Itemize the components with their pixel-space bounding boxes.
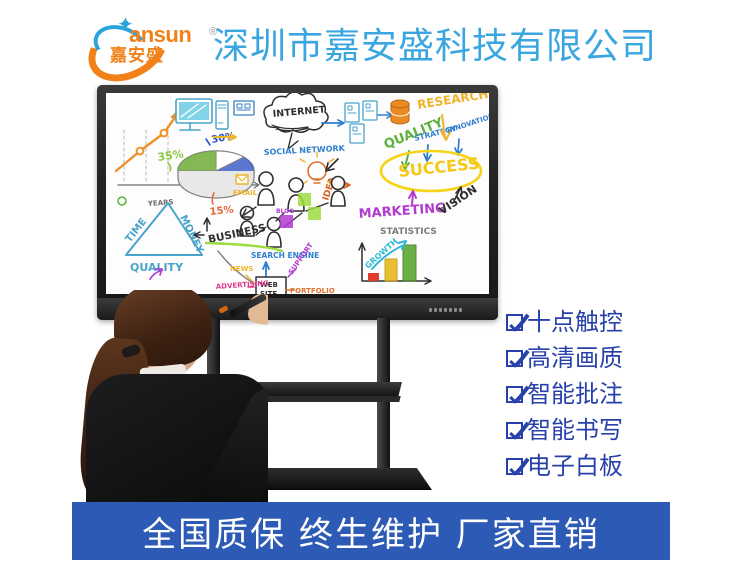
checkbox-checked-icon xyxy=(506,422,523,439)
bottom-banner: 全国质保 终生维护 厂家直销 xyxy=(72,502,670,560)
svg-text:PORTFOLIO: PORTFOLIO xyxy=(290,287,335,294)
feature-item-annotation: 智能批注 xyxy=(506,378,686,410)
feature-label: 智能批注 xyxy=(527,382,623,406)
svg-text:SOCIAL NETWORK: SOCIAL NETWORK xyxy=(264,144,346,157)
svg-text:NEWS: NEWS xyxy=(230,265,253,273)
control-button[interactable] xyxy=(439,308,442,312)
company-name: 深圳市嘉安盛科技有限公司 xyxy=(213,17,657,69)
whiteboard-screen[interactable]: YEARS 35% 30% 15% xyxy=(106,93,489,294)
display-control-buttons[interactable] xyxy=(429,308,462,312)
brand-logo: ✦ ansun 嘉安盛 ® xyxy=(86,14,206,66)
svg-text:SUCCESS: SUCCESS xyxy=(397,154,480,181)
svg-text:MARKETING: MARKETING xyxy=(358,201,446,222)
promo-page: ✦ ansun 嘉安盛 ® 深圳市嘉安盛科技有限公司 xyxy=(0,0,750,571)
control-button[interactable] xyxy=(459,308,462,312)
control-button[interactable] xyxy=(429,308,432,312)
feature-item-whiteboard: 电子白板 xyxy=(506,450,686,482)
feature-item-writing: 智能书写 xyxy=(506,414,686,446)
svg-text:RESEARCH: RESEARCH xyxy=(416,93,489,112)
feature-label: 智能书写 xyxy=(527,418,623,442)
feature-label: 十点触控 xyxy=(527,310,623,334)
banner-text: 全国质保 终生维护 厂家直销 xyxy=(142,507,600,556)
svg-text:STATISTICS: STATISTICS xyxy=(380,227,437,237)
presenter-person xyxy=(78,290,268,505)
svg-text:15%: 15% xyxy=(209,205,234,218)
checkbox-checked-icon xyxy=(506,314,523,331)
checkbox-checked-icon xyxy=(506,350,523,367)
feature-item-hd: 高清画质 xyxy=(506,342,686,374)
control-button[interactable] xyxy=(434,308,437,312)
checkbox-checked-icon xyxy=(506,458,523,475)
feature-item-touch: 十点触控 xyxy=(506,306,686,338)
whiteboard-sketch: YEARS 35% 30% 15% xyxy=(106,93,489,294)
page-header: ✦ ansun 嘉安盛 ® 深圳市嘉安盛科技有限公司 xyxy=(0,0,750,80)
control-button[interactable] xyxy=(449,308,452,312)
logo-chinese-text: 嘉安盛 xyxy=(110,41,164,66)
feature-label: 电子白板 xyxy=(527,454,623,478)
stylus-tip xyxy=(218,305,228,314)
control-button[interactable] xyxy=(454,308,457,312)
checkbox-checked-icon xyxy=(506,386,523,403)
feature-label: 高清画质 xyxy=(527,346,623,370)
interactive-display[interactable]: YEARS 35% 30% 15% xyxy=(97,85,498,320)
svg-text:BLOG: BLOG xyxy=(276,208,294,215)
svg-text:35%: 35% xyxy=(157,147,185,164)
svg-text:EMAIL: EMAIL xyxy=(233,189,258,197)
feature-list: 十点触控 高清画质 智能批注 智能书写 电子白板 xyxy=(506,306,686,486)
control-button[interactable] xyxy=(444,308,447,312)
